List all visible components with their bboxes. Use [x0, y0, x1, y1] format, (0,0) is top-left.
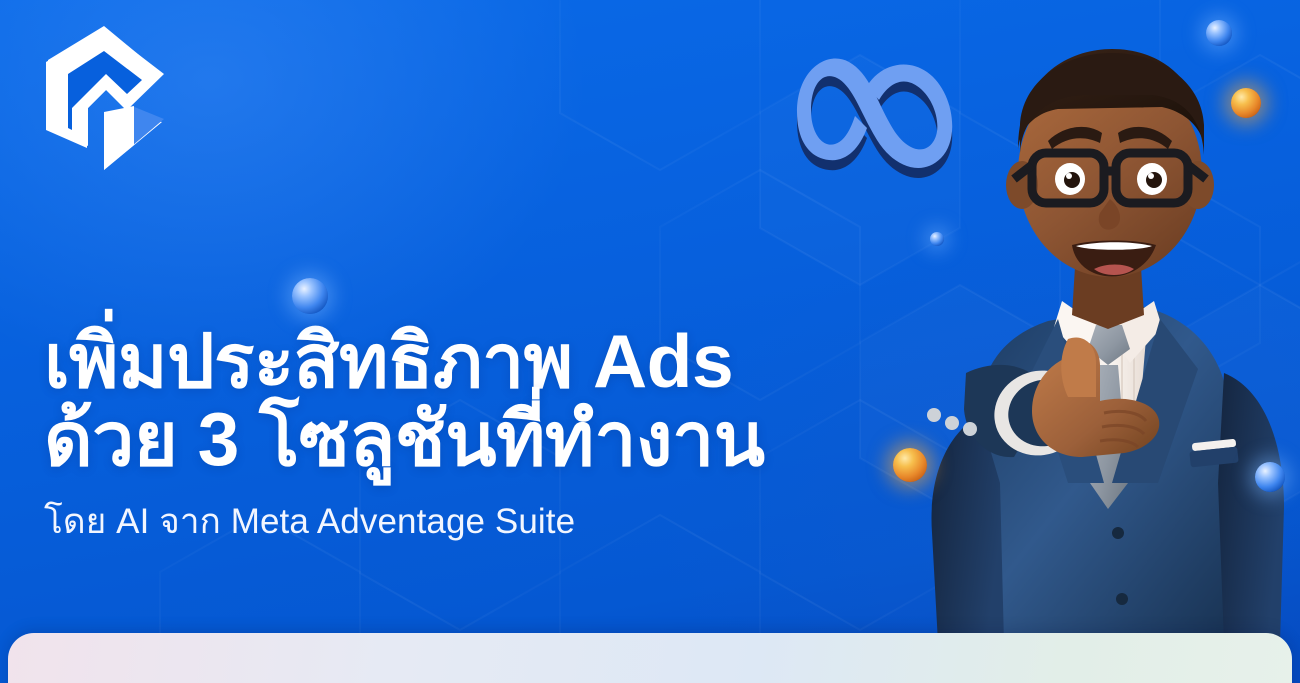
subheadline: โดย AI จาก Meta Adventage Suite [44, 502, 924, 542]
page-title: เพิ่มประสิทธิภาพ Ads ด้วย 3 โซลูชันที่ทำ… [44, 322, 924, 478]
headline-line-1: เพิ่มประสิทธิภาพ Ads [44, 319, 733, 403]
businessman-thumbs-up-3d [872, 13, 1300, 643]
hexagon-r-logo[interactable] [34, 18, 174, 173]
headline-line-2: ด้วย 3 โซลูชันที่ทำงาน [44, 400, 924, 478]
floating-orb-blue-1 [292, 278, 328, 314]
headline-block: เพิ่มประสิทธิภาพ Ads ด้วย 3 โซลูชันที่ทำ… [44, 322, 924, 542]
content-card [8, 633, 1292, 683]
promo-banner: เพิ่มประสิทธิภาพ Ads ด้วย 3 โซลูชันที่ทำ… [0, 0, 1300, 683]
